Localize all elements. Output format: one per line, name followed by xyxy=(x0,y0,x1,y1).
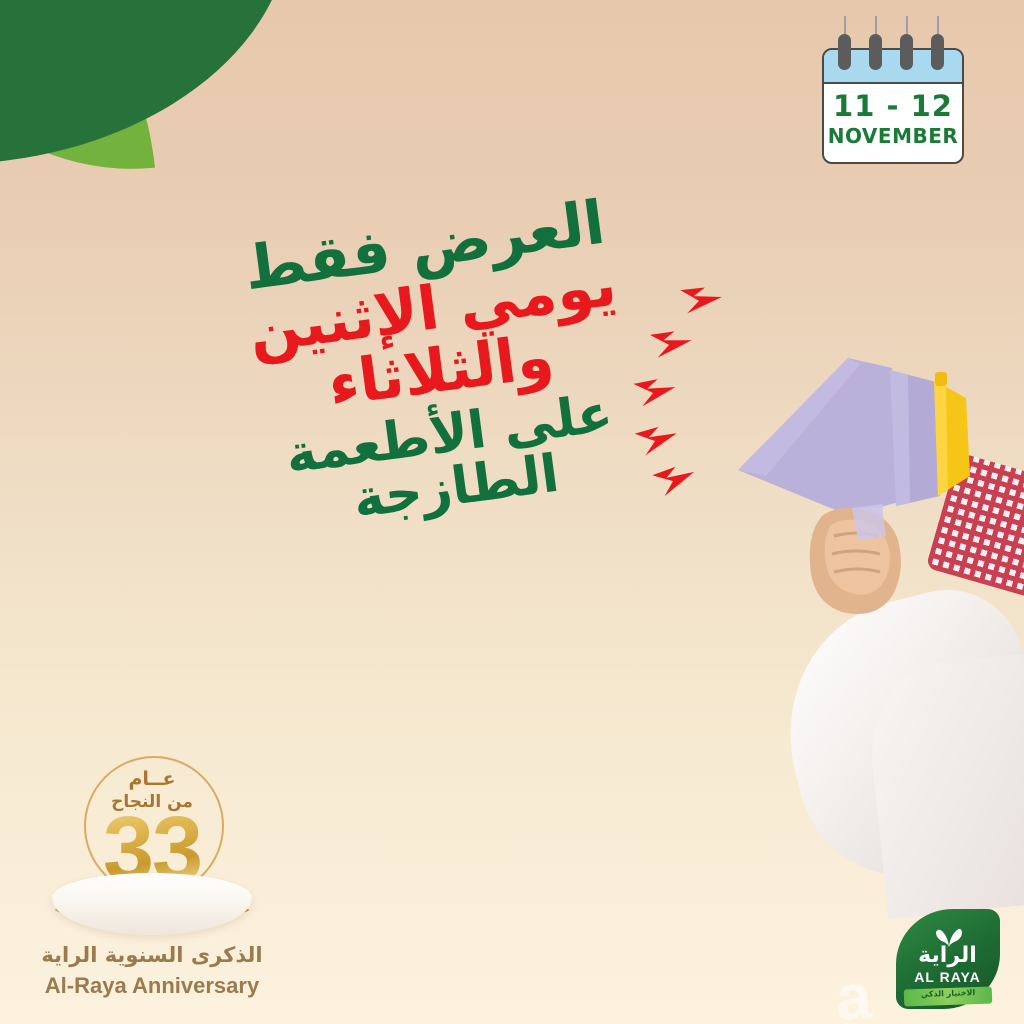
calendar-ring-1 xyxy=(838,34,851,70)
anniversary-label-english: Al-Raya Anniversary xyxy=(22,973,282,999)
headline-block: العرض فقط يومي الإثنين والثلاثاء على الأ… xyxy=(192,186,687,543)
calendar-ring-4 xyxy=(931,34,944,70)
anniversary-label-arabic: الذكرى السنوية الراية xyxy=(22,943,282,967)
watermark-text: a xyxy=(834,959,873,1024)
decor-leaf-dark-icon xyxy=(0,0,315,175)
megaphone-icon xyxy=(730,320,990,510)
person-with-megaphone: a xyxy=(640,270,1024,830)
al-raya-brand-logo: الراية AL RAYA الاختيار الذكي xyxy=(890,905,1005,1015)
calendar-ring-3 xyxy=(900,34,913,70)
anniversary-top-arabic: عــام xyxy=(22,768,282,790)
anniversary-logo: عــام من النجاح 33 الذكرى السنوية الراية… xyxy=(22,748,282,1004)
brand-name-arabic: الراية xyxy=(890,943,1005,968)
calendar-widget: 11 - 12 NOVEMBER xyxy=(812,16,972,164)
calendar-dates: 11 - 12 xyxy=(824,92,962,121)
calendar-month: NOVEMBER xyxy=(824,126,962,146)
calendar-ring-2 xyxy=(869,34,882,70)
anniversary-podium-top xyxy=(52,873,252,935)
promotional-poster: 11 - 12 NOVEMBER العرض فقط يومي الإثنين … xyxy=(0,0,1024,1024)
brand-name-english: AL RAYA xyxy=(890,969,1005,985)
